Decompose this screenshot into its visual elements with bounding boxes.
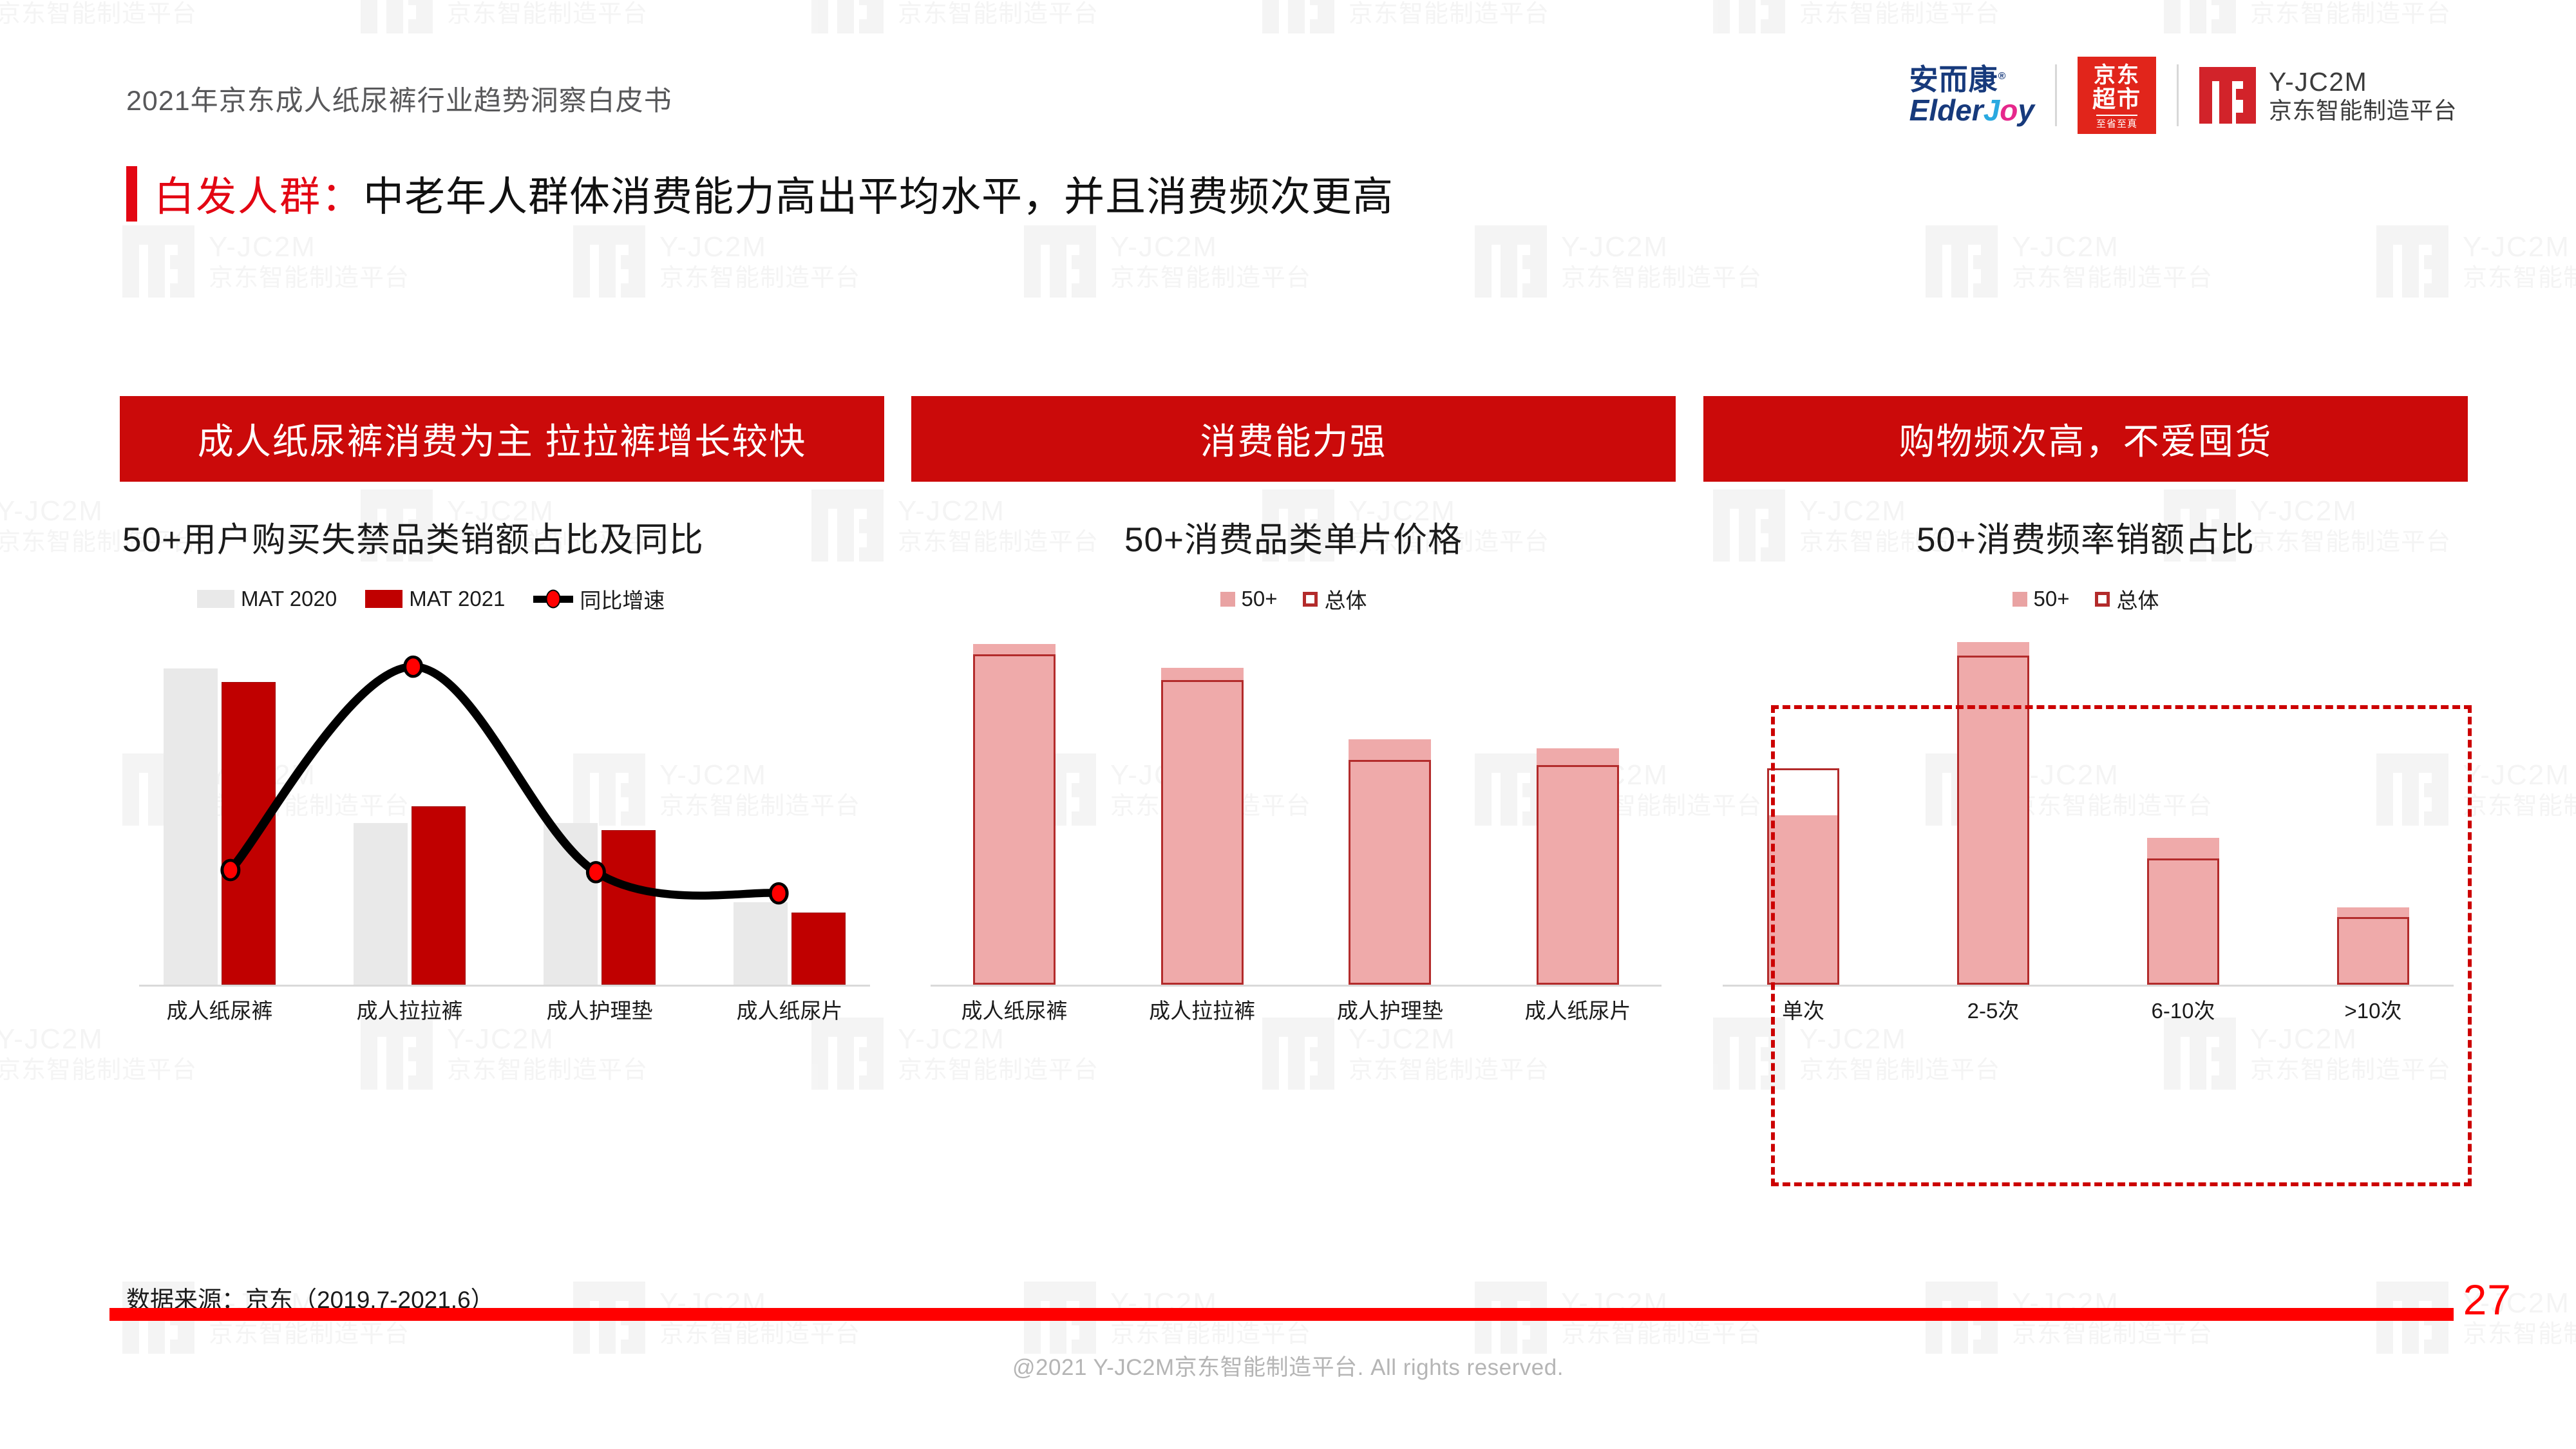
bar-group [1494,629,1662,985]
bar-mat2020 [354,823,408,985]
page-header: 2021年京东成人纸尿裤行业趋势洞察白皮书 安而康® ElderJoy 京东 超… [0,0,2576,148]
headline-red-text: 白发人群： [154,164,363,223]
chart-2-bars [931,629,1662,985]
elderjoy-logo: 安而康® ElderJoy [1909,64,2034,126]
bar-overall [2337,917,2409,985]
red-square-icon [365,590,402,608]
bar-mat2020 [734,902,788,985]
panel-3-banner: 购物频次高，不爱囤货 [1703,396,2468,482]
bar-overall [973,654,1056,985]
hollow-square-icon [2095,592,2110,607]
panel-3-subtitle: 50+消费频率销额占比 [1703,513,2468,562]
x-axis-label: 成人纸尿裤 [139,994,300,1025]
legend-label-growth: 同比增速 [580,583,665,614]
elderjoy-en-part4: y [2018,95,2034,126]
panel-unit-price: 消费能力强 50+消费品类单片价格 50+ 总体 成人纸尿裤成人拉拉裤成人护理垫… [911,396,1676,1028]
x-axis-label: 成人护理垫 [1306,994,1473,1025]
bar-group [2293,629,2454,985]
panel-2-subtitle: 50+消费品类单片价格 [911,513,1676,562]
bar-overall [1767,768,1839,985]
panel-1-banner: 成人纸尿裤消费为主 拉拉裤增长较快 [120,396,884,482]
bar-group [329,629,490,985]
chart-2-x-labels: 成人纸尿裤成人拉拉裤成人护理垫成人纸尿片 [931,990,1662,1028]
x-axis-label: 2-5次 [1913,994,2074,1025]
legend-item-mat2021: MAT 2021 [365,587,505,611]
slide-page: 2021年京东成人纸尿裤行业趋势洞察白皮书 安而康® ElderJoy 京东 超… [0,0,2576,1449]
bar-group [709,629,870,985]
bar-mat2021 [601,830,656,985]
bar-overall [1537,765,1619,985]
footer-rule [109,1308,2454,1321]
bar-mat2021 [412,806,466,985]
legend-label-overall-p2: 总体 [1324,583,1367,614]
elderjoy-cn-text: 安而康® [1909,64,2007,95]
chart-1-x-labels: 成人纸尿裤成人拉拉裤成人护理垫成人纸尿片 [139,990,870,1028]
bar-group [519,629,680,985]
panel-2-legend: 50+ 总体 [911,583,1676,614]
chart-1-bars [139,629,870,985]
elderjoy-en-part1: Elder [1909,95,1984,126]
legend-label-50plus-p2: 50+ [1242,587,1278,611]
jd-line-3: 至省至真 [2096,115,2137,129]
chart-3-bars [1723,629,2454,985]
elderjoy-en-text: ElderJoy [1909,95,2034,126]
hollow-square-icon [1303,592,1318,607]
legend-item-mat2020: MAT 2020 [197,587,337,611]
bar-group [139,629,300,985]
document-title: 2021年京东成人纸尿裤行业趋势洞察白皮书 [126,79,672,118]
legend-label-50plus-p3: 50+ [2034,587,2070,611]
yjc2m-cn-label: 京东智能制造平台 [2269,97,2457,124]
bar-group [1723,629,1884,985]
pink-square-icon [2012,592,2027,607]
chart-3-x-labels: 单次2-5次6-10次>10次 [1723,990,2454,1028]
bar-overall [1161,680,1244,985]
panel-3-legend: 50+ 总体 [1703,583,2468,614]
bar-group [1913,629,2074,985]
bar-group [2103,629,2264,985]
logo-divider-2 [2177,64,2179,126]
legend-item-50plus-p3: 50+ [2012,587,2070,611]
chart-1-grouped-bar-line: 成人纸尿裤成人拉拉裤成人护理垫成人纸尿片 [120,629,884,1028]
legend-label-mat2020: MAT 2020 [241,587,337,611]
bar-group [931,629,1098,985]
x-axis-label: 成人护理垫 [519,994,680,1025]
x-axis-label: 成人纸尿裤 [931,994,1098,1025]
chart-3-overlay-bar: 单次2-5次6-10次>10次 [1703,629,2468,1028]
panel-2-banner: 消费能力强 [911,396,1676,482]
legend-label-mat2021: MAT 2021 [409,587,505,611]
pink-square-icon [1220,592,1235,607]
jd-line-2: 超市 [2092,88,2141,111]
legend-item-overall-p2: 总体 [1303,583,1367,614]
page-number: 27 [2463,1275,2512,1324]
x-axis-label: 成人拉拉裤 [1119,994,1286,1025]
legend-item-overall-p3: 总体 [2095,583,2159,614]
slide-headline: 白发人群： 中老年人群体消费能力高出平均水平，并且消费频次更高 [126,164,1394,223]
bar-mat2020 [544,823,598,985]
legend-item-50plus-p2: 50+ [1220,587,1278,611]
x-axis-label: 成人拉拉裤 [329,994,490,1025]
bar-mat2021 [222,682,276,985]
line-marker-icon [533,596,573,603]
legend-label-overall-p3: 总体 [2116,583,2159,614]
jd-line-1: 京东 [2094,64,2140,86]
copyright-text: @2021 Y-JC2M京东智能制造平台. All rights reserve… [0,1349,2576,1382]
panel-incontinence-share: 成人纸尿裤消费为主 拉拉裤增长较快 50+用户购买失禁品类销额占比及同比 MAT… [120,396,884,1028]
logo-bar: 安而康® ElderJoy 京东 超市 至省至真 Y-JC2M 京东智能制造平台 [1909,57,2457,134]
bar-overall [2147,858,2219,985]
bar-group [1119,629,1286,985]
elderjoy-en-part2: J [1984,95,2000,126]
x-axis-label: 成人纸尿片 [1494,994,1662,1025]
legend-item-growth: 同比增速 [533,583,665,614]
yjc2m-en-label: Y-JC2M [2269,66,2457,97]
elderjoy-cn-label: 安而康 [1909,63,1998,96]
bar-overall [1957,656,2029,985]
gray-square-icon [197,590,234,608]
bar-mat2021 [791,913,846,985]
bar-mat2020 [164,668,218,985]
panel-purchase-frequency: 购物频次高，不爱囤货 50+消费频率销额占比 50+ 总体 单次2-5次6-10… [1703,396,2468,1028]
bar-group [1306,629,1473,985]
chart-2-overlay-bar: 成人纸尿裤成人拉拉裤成人护理垫成人纸尿片 [911,629,1676,1028]
x-axis-label: 6-10次 [2103,994,2264,1025]
chart-2-axis [931,985,1662,987]
headline-accent-bar [126,166,137,222]
chart-1-axis [139,985,870,987]
yjc2m-logo: Y-JC2M 京东智能制造平台 [2199,66,2457,125]
yjc2m-mark-icon [2199,67,2256,124]
elderjoy-en-part3: o [2000,95,2018,126]
jd-supermarket-logo: 京东 超市 至省至真 [2078,57,2156,134]
x-axis-label: 成人纸尿片 [709,994,870,1025]
x-axis-label: >10次 [2293,994,2454,1025]
x-axis-label: 单次 [1723,994,1884,1025]
bar-overall [1349,760,1431,985]
yjc2m-wordmark: Y-JC2M 京东智能制造平台 [2269,66,2457,125]
panel-1-legend: MAT 2020 MAT 2021 同比增速 [120,583,884,614]
headline-black-text: 中老年人群体消费能力高出平均水平，并且消费频次更高 [363,164,1394,223]
panel-1-subtitle: 50+用户购买失禁品类销额占比及同比 [120,513,884,562]
chart-3-axis [1723,985,2454,987]
logo-divider-1 [2055,64,2057,126]
registered-trademark-icon: ® [1998,71,2007,82]
